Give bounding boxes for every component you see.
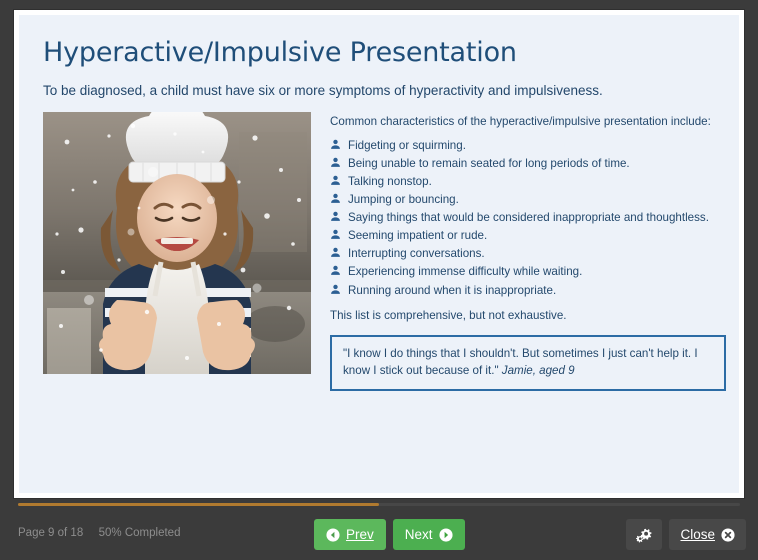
status-text: Page 9 of 18 50% Completed	[18, 527, 180, 539]
person-icon	[330, 157, 341, 170]
next-button-label: Next	[405, 527, 433, 542]
person-icon	[330, 211, 341, 224]
person-icon	[330, 175, 341, 188]
arrow-circle-right-icon	[439, 528, 453, 542]
slide-subtitle: To be diagnosed, a child must have six o…	[43, 82, 715, 100]
person-icon	[330, 284, 341, 297]
quote-attribution: Jamie, aged 9	[502, 364, 575, 377]
prev-button-label: Prev	[346, 527, 374, 542]
progress-bar[interactable]	[18, 503, 740, 506]
list-item: Seeming impatient or rude.	[330, 227, 715, 245]
progress-bar-fill	[18, 503, 379, 506]
list-item-label: Being unable to remain seated for long p…	[348, 155, 630, 173]
person-icon	[330, 139, 341, 152]
list-closing-note: This list is comprehensive, but not exha…	[330, 309, 715, 322]
list-item-label: Running around when it is inappropriate.	[348, 282, 556, 300]
slide-photo	[43, 112, 311, 374]
list-item: Jumping or bouncing.	[330, 191, 715, 209]
list-item-label: Experiencing immense difficulty while wa…	[348, 263, 582, 281]
list-item-label: Saying things that would be considered i…	[348, 209, 709, 227]
list-item: Interrupting conversations.	[330, 245, 715, 263]
slide-canvas: Hyperactive/Impulsive Presentation To be…	[19, 15, 739, 493]
elearning-player: Hyperactive/Impulsive Presentation To be…	[0, 0, 758, 560]
characteristics-column: Common characteristics of the hyperactiv…	[330, 112, 715, 391]
slide-frame: Hyperactive/Impulsive Presentation To be…	[14, 10, 744, 498]
slide-body: Common characteristics of the hyperactiv…	[43, 112, 715, 391]
page-status: Page 9 of 18	[18, 527, 83, 539]
arrow-circle-left-icon	[326, 528, 340, 542]
utility-buttons: Close	[626, 519, 746, 550]
list-item: Fidgeting or squirming.	[330, 137, 715, 155]
person-icon	[330, 229, 341, 242]
list-item-label: Seeming impatient or rude.	[348, 227, 487, 245]
list-item: Saying things that would be considered i…	[330, 209, 715, 227]
person-icon	[330, 193, 341, 206]
person-icon	[330, 265, 341, 278]
completion-status: 50% Completed	[99, 527, 181, 539]
prev-button[interactable]: Prev	[314, 519, 386, 550]
list-item: Running around when it is inappropriate.	[330, 282, 715, 300]
close-button[interactable]: Close	[669, 519, 746, 550]
player-toolbar: Page 9 of 18 50% Completed Prev Next	[0, 508, 758, 560]
list-item: Being unable to remain seated for long p…	[330, 155, 715, 173]
list-item-label: Interrupting conversations.	[348, 245, 485, 263]
list-item-label: Jumping or bouncing.	[348, 191, 459, 209]
navigation-buttons: Prev Next	[314, 519, 465, 550]
quote-callout: "I know I do things that I shouldn't. Bu…	[330, 335, 726, 391]
person-icon	[330, 247, 341, 260]
settings-button[interactable]	[626, 519, 662, 550]
list-item-label: Talking nonstop.	[348, 173, 432, 191]
list-intro: Common characteristics of the hyperactiv…	[330, 114, 715, 129]
list-item: Experiencing immense difficulty while wa…	[330, 263, 715, 281]
list-item-label: Fidgeting or squirming.	[348, 137, 466, 155]
slide-content: Hyperactive/Impulsive Presentation To be…	[19, 15, 739, 391]
list-item: Talking nonstop.	[330, 173, 715, 191]
next-button[interactable]: Next	[393, 519, 465, 550]
page-title: Hyperactive/Impulsive Presentation	[43, 37, 715, 68]
close-button-label: Close	[680, 527, 715, 542]
close-circle-icon	[721, 528, 735, 542]
gear-icon	[636, 527, 652, 543]
characteristics-list: Fidgeting or squirming. Being unable to …	[330, 137, 715, 299]
